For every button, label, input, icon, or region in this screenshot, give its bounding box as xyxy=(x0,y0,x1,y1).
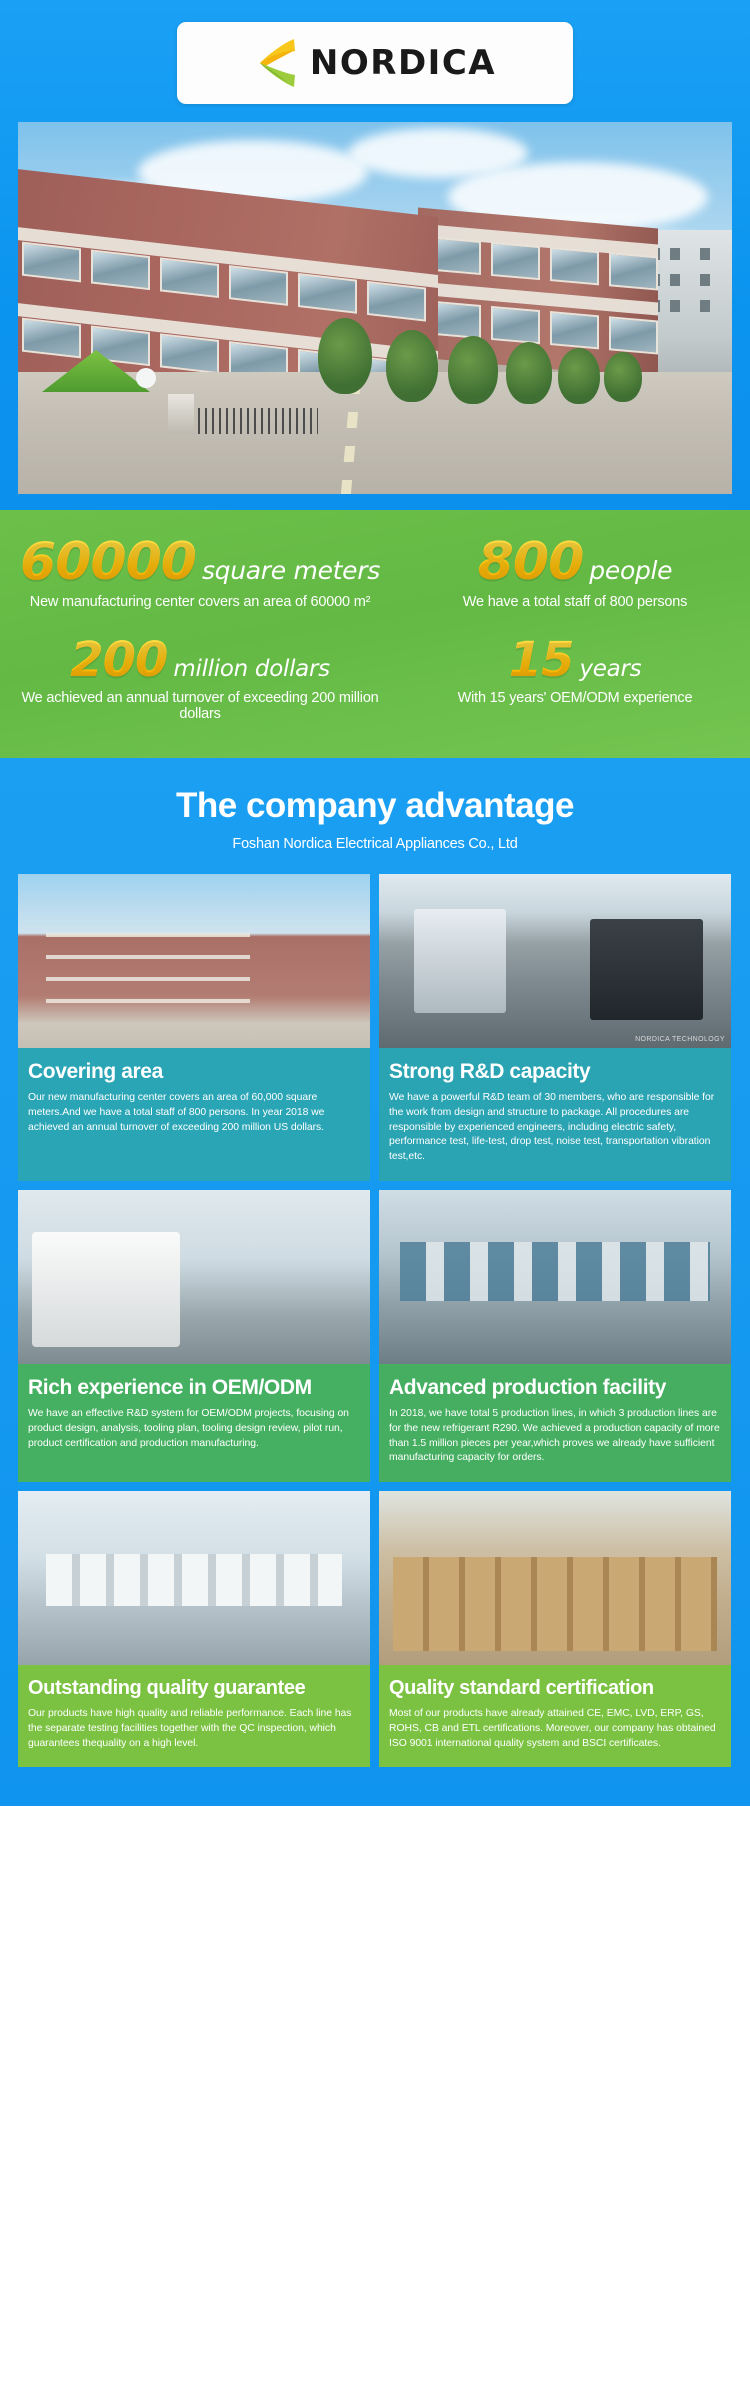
card-row-1: Covering area Our new manufacturing cent… xyxy=(18,874,732,1181)
advantage-card-covering-area: Covering area Our new manufacturing cent… xyxy=(18,874,370,1181)
hero-factory-photo xyxy=(18,122,732,494)
card-photo xyxy=(18,874,370,1048)
section-title: The company advantage xyxy=(18,786,732,826)
card-heading: Strong R&D capacity xyxy=(389,1060,721,1084)
company-advantage-section: The company advantage Foshan Nordica Ele… xyxy=(0,758,750,1806)
card-photo xyxy=(379,1190,731,1364)
stat-description: With 15 years' OEM/ODM experience xyxy=(408,690,742,706)
stat-unit: years xyxy=(580,656,642,682)
stat-item-area: 60000 square meters New manufacturing ce… xyxy=(0,536,400,610)
stat-item-people: 800 people We have a total staff of 800 … xyxy=(400,536,750,610)
stat-unit: square meters xyxy=(202,556,380,585)
card-body-text: We have an effective R&D system for OEM/… xyxy=(28,1407,360,1451)
card-photo xyxy=(379,1491,731,1665)
card-photo: NORDICA TECHNOLOGY xyxy=(379,874,731,1048)
stat-item-turnover: 200 million dollars We achieved an annua… xyxy=(0,636,400,722)
advantage-card-standard-certification: Quality standard certification Most of o… xyxy=(379,1491,731,1767)
advantage-card-production-facility: Advanced production facility In 2018, we… xyxy=(379,1190,731,1482)
photo-watermark: NORDICA TECHNOLOGY xyxy=(635,1036,725,1043)
advantage-card-quality-guarantee: Outstanding quality guarantee Our produc… xyxy=(18,1491,370,1767)
card-heading: Outstanding quality guarantee xyxy=(28,1677,360,1700)
advantage-card-rd-capacity: NORDICA TECHNOLOGY Strong R&D capacity W… xyxy=(379,874,731,1181)
nordica-chevron-logo-icon xyxy=(254,37,300,89)
stat-description: New manufacturing center covers an area … xyxy=(8,594,392,610)
stats-row-2: 200 million dollars We achieved an annua… xyxy=(0,636,750,722)
card-row-3: Outstanding quality guarantee Our produc… xyxy=(18,1491,732,1767)
stat-unit: million dollars xyxy=(173,656,329,682)
card-heading: Quality standard certification xyxy=(389,1677,721,1700)
stat-item-years: 15 years With 15 years' OEM/ODM experien… xyxy=(400,636,750,722)
card-body-text: Our new manufacturing center covers an a… xyxy=(28,1091,360,1135)
statistics-section: 60000 square meters New manufacturing ce… xyxy=(0,510,750,758)
section-subtitle: Foshan Nordica Electrical Appliances Co.… xyxy=(18,836,732,852)
product-detail-page: NORDICA xyxy=(0,0,750,1806)
card-photo xyxy=(18,1190,370,1364)
card-body-text: Most of our products have already attain… xyxy=(389,1707,721,1751)
card-heading: Advanced production facility xyxy=(389,1376,721,1400)
stat-number: 800 xyxy=(478,536,584,588)
stats-row-1: 60000 square meters New manufacturing ce… xyxy=(0,536,750,610)
globe-lamp xyxy=(136,368,156,388)
card-body-text: Our products have high quality and relia… xyxy=(28,1707,360,1751)
brand-logo-card: NORDICA xyxy=(177,22,573,104)
stat-description: We achieved an annual turnover of exceed… xyxy=(8,690,392,722)
hero-section: NORDICA xyxy=(0,0,750,510)
card-photo xyxy=(18,1491,370,1665)
stat-number: 200 xyxy=(70,636,167,684)
advantage-card-oem-experience: Rich experience in OEM/ODM We have an ef… xyxy=(18,1190,370,1482)
stat-number: 60000 xyxy=(20,536,196,588)
advantage-card-grid: Covering area Our new manufacturing cent… xyxy=(18,874,732,1767)
card-heading: Covering area xyxy=(28,1060,360,1084)
stat-description: We have a total staff of 800 persons xyxy=(408,594,742,610)
card-body-text: In 2018, we have total 5 production line… xyxy=(389,1407,721,1466)
brand-wordmark: NORDICA xyxy=(310,43,496,83)
stat-unit: people xyxy=(589,556,672,585)
card-row-2: Rich experience in OEM/ODM We have an ef… xyxy=(18,1190,732,1482)
stat-number: 15 xyxy=(509,636,574,684)
card-body-text: We have a powerful R&D team of 30 member… xyxy=(389,1091,721,1165)
card-heading: Rich experience in OEM/ODM xyxy=(28,1376,360,1400)
